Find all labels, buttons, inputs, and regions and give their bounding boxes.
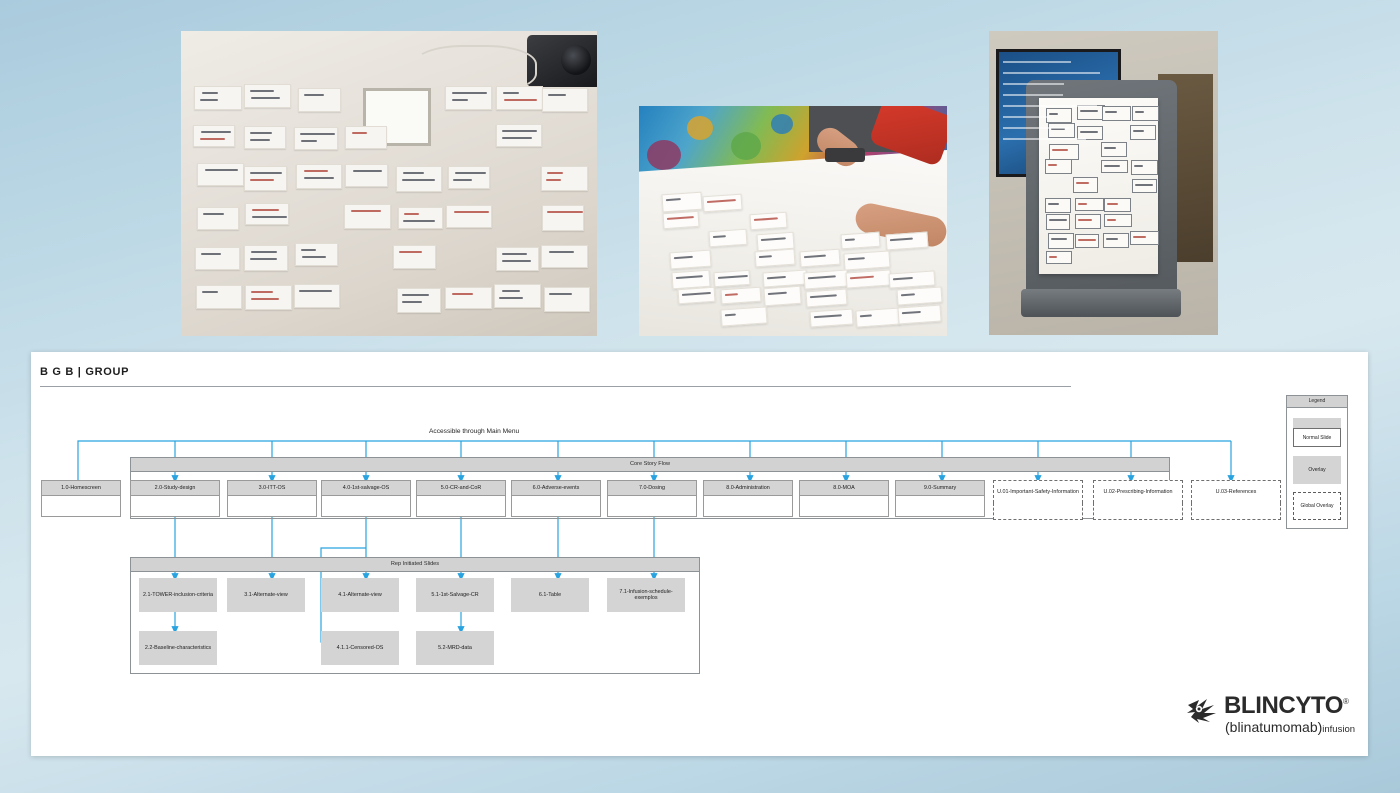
flipchart-easel-photo — [989, 31, 1218, 335]
printed-card — [670, 249, 712, 269]
handwriting-stroke — [402, 301, 422, 303]
handwriting-stroke — [1105, 111, 1117, 113]
handwriting-stroke — [1048, 203, 1059, 205]
printed-card — [763, 286, 801, 306]
handwriting-stroke — [502, 137, 533, 139]
handwriting-stroke — [1051, 238, 1067, 240]
handwriting-stroke — [201, 131, 231, 133]
handwriting-stroke — [1076, 182, 1089, 184]
sticky-note — [244, 245, 288, 270]
main-menu-band-label: Accessible through Main Menu — [429, 428, 519, 435]
handwriting-stroke — [252, 209, 279, 211]
printed-card — [721, 306, 768, 327]
handwriting-stroke — [808, 276, 836, 280]
sitemap-node-body — [607, 496, 697, 517]
handwriting-stroke — [666, 198, 681, 201]
sticky-note — [197, 163, 244, 186]
title-divider — [40, 386, 1071, 387]
sitemap-node-body — [416, 496, 506, 517]
handwriting-stroke — [499, 297, 523, 299]
flipchart-box — [1045, 159, 1072, 174]
handwriting-stroke — [302, 256, 326, 258]
flipchart-box — [1132, 179, 1157, 194]
handwriting-stroke — [353, 170, 383, 172]
sitemap-node-body — [130, 496, 220, 517]
handwriting-stroke — [902, 311, 921, 314]
sitemap-node-label: 2.2-Baseline-characteristics — [143, 645, 213, 651]
handwriting-stroke — [1107, 219, 1116, 221]
screen-text-line — [1003, 105, 1097, 107]
handwriting-stroke — [502, 130, 537, 132]
printed-card — [845, 269, 891, 288]
connector-lines — [31, 352, 1368, 756]
sitemap-node-label: U.03-References — [1214, 489, 1259, 495]
printed-card — [799, 248, 840, 266]
handwriting-stroke — [1135, 111, 1144, 113]
sitemap-node-header: 6.0-Adverse-events — [511, 480, 601, 496]
sitemap-node-label: 2.0-Study-design — [153, 485, 198, 491]
flipchart-box — [1130, 231, 1159, 245]
handwriting-stroke — [250, 132, 272, 134]
handwriting-stroke — [1106, 238, 1118, 240]
flipchart-box — [1049, 144, 1079, 160]
legend-swatch-normal-cap — [1293, 418, 1341, 428]
sitemap-node[interactable]: 4.0-1st-salvage-OS — [321, 480, 411, 517]
sticky-note — [294, 284, 340, 308]
handwriting-stroke — [452, 99, 468, 101]
sitemap-node[interactable]: 8.0-Administration — [703, 480, 793, 517]
handwriting-stroke — [859, 314, 871, 317]
presentation-slide: B G B | GROUP Accessible through Main Me… — [31, 352, 1368, 756]
sitemap-node[interactable]: 5.1-1st-Salvage-CR — [416, 578, 494, 612]
handwriting-stroke — [845, 239, 855, 242]
sitemap-node-label: 5.1-1st-Salvage-CR — [429, 592, 480, 598]
sticky-note — [195, 247, 240, 270]
printed-card — [708, 229, 747, 248]
legend-title: Legend — [1287, 396, 1347, 408]
handwriting-stroke — [725, 293, 738, 296]
handwriting-stroke — [201, 253, 222, 255]
handwriting-stroke — [351, 210, 381, 212]
sitemap-node[interactable]: 3.0-ITT-OS — [227, 480, 317, 517]
handwriting-stroke — [200, 138, 225, 140]
handwriting-stroke — [250, 172, 282, 174]
handwriting-stroke — [503, 92, 519, 94]
screen-text-line — [1003, 116, 1050, 118]
sitemap-node[interactable]: 7.0-Dosing — [607, 480, 697, 517]
sticky-note — [196, 285, 242, 309]
sitemap-node-header: 7.0-Dosing — [607, 480, 697, 496]
handwriting-stroke — [850, 276, 874, 280]
handwriting-stroke — [1078, 219, 1092, 221]
legend-swatch-overlay: Overlay — [1293, 456, 1341, 484]
handwriting-stroke — [900, 293, 914, 296]
sitemap-node-header: 2.0-Study-design — [130, 480, 220, 496]
sitemap-node-header: 4.1.1-Censored-OS — [321, 631, 399, 665]
sitemap-node[interactable]: 9.0-Summary — [895, 480, 985, 517]
handwriting-stroke — [1107, 203, 1118, 205]
handwriting-stroke — [250, 179, 274, 181]
sticky-note — [541, 245, 588, 268]
flipchart-box — [1131, 160, 1158, 175]
flipchart-box — [1101, 160, 1128, 173]
handwriting-stroke — [676, 276, 703, 280]
handwriting-stroke — [767, 276, 786, 279]
sitemap-node[interactable]: U.02-Prescribing-Information — [1093, 480, 1183, 520]
handwriting-stroke — [403, 220, 436, 222]
sitemap-node-header: 8.0-Administration — [703, 480, 793, 496]
flipchart-box — [1075, 198, 1104, 212]
sitemap-node-label: 7.0-Dosing — [637, 485, 667, 491]
handwriting-stroke — [402, 294, 429, 296]
handwriting-stroke — [813, 314, 841, 318]
handwriting-stroke — [301, 140, 317, 142]
sitemap-node[interactable]: 2.2-Baseline-characteristics — [139, 631, 217, 665]
legend-item-global-overlay: Global Overlay — [1293, 492, 1341, 520]
sticky-note — [496, 86, 543, 111]
handwriting-stroke — [546, 179, 561, 181]
flipchart-box — [1103, 233, 1129, 248]
sticky-note — [345, 126, 387, 148]
flipchart-box — [1104, 198, 1131, 213]
handwriting-stroke — [252, 216, 287, 218]
sitemap-node-header: 3.1-Alternate-view — [227, 578, 305, 612]
printed-card — [714, 270, 751, 288]
handwriting-stroke — [452, 293, 473, 295]
sticky-note — [244, 166, 286, 192]
handwriting-stroke — [768, 292, 787, 295]
handwriting-stroke — [761, 238, 786, 242]
flipchart-box — [1045, 198, 1071, 213]
flipchart-box — [1102, 106, 1130, 122]
printed-card — [803, 270, 848, 290]
sticky-note — [244, 126, 286, 149]
handwriting-stroke — [304, 170, 328, 172]
handwriting-stroke — [707, 199, 736, 203]
printed-card — [755, 249, 796, 268]
flipchart-box — [1130, 125, 1156, 140]
handwriting-stroke — [404, 213, 419, 215]
handwriting-stroke — [1080, 131, 1098, 133]
lane-core-story-flow-header: Core Story Flow — [131, 458, 1169, 472]
flipchart-box — [1075, 214, 1102, 229]
sitemap-node-label: 3.1-Alternate-view — [242, 592, 289, 598]
printed-card — [886, 232, 929, 251]
sitemap-node[interactable]: U.03-References — [1191, 480, 1281, 520]
sticky-note — [345, 164, 388, 187]
screen-text-line — [1003, 61, 1071, 63]
sitemap-node-header: U.02-Prescribing-Information — [1093, 480, 1183, 503]
handwriting-stroke — [547, 211, 583, 213]
handwriting-stroke — [399, 251, 422, 253]
handwriting-stroke — [1078, 203, 1086, 205]
handwriting-stroke — [250, 258, 277, 260]
page-title: B G B | GROUP — [40, 366, 129, 378]
handwriting-stroke — [1049, 256, 1058, 258]
sitemap-node-body — [511, 496, 601, 517]
printed-card — [840, 232, 880, 250]
handwriting-stroke — [202, 291, 218, 293]
handwriting-stroke — [893, 277, 913, 280]
sticky-note — [542, 205, 584, 231]
sticky-note — [496, 247, 539, 271]
blincyto-wordmark: BLINCYTO® — [1224, 692, 1349, 720]
sitemap-node-header: 2.1-TOWER-inclusion-criteria — [139, 578, 217, 612]
handwriting-stroke — [1134, 165, 1142, 167]
sticky-note — [445, 86, 493, 110]
handwriting-stroke — [549, 293, 571, 295]
handwriting-stroke — [1078, 239, 1096, 241]
sticky-note — [298, 88, 341, 113]
handwriting-stroke — [549, 251, 574, 253]
handwriting-stroke — [205, 169, 238, 171]
sticky-note — [294, 127, 338, 150]
sticky-note — [244, 84, 291, 108]
sitemap-node[interactable]: 3.1-Alternate-view — [227, 578, 305, 612]
handwriting-stroke — [502, 260, 531, 262]
sitemap-node-header: U.03-References — [1191, 480, 1281, 503]
handwriting-stroke — [203, 213, 224, 215]
screen-text-line — [1003, 127, 1069, 129]
table-card-sort-photo — [639, 106, 947, 336]
flipchart-box — [1046, 251, 1072, 264]
handwriting-stroke — [890, 238, 913, 242]
sitemap-node[interactable]: 2.1-TOWER-inclusion-criteria — [139, 578, 217, 612]
sitemap-node-label: 8.0-MOA — [831, 485, 857, 491]
handwriting-stroke — [452, 92, 487, 94]
handwriting-stroke — [674, 255, 693, 258]
sitemap-node[interactable]: U.01-Important-Safety-Information — [993, 480, 1083, 520]
handwriting-stroke — [1048, 164, 1057, 166]
sitemap-node-body — [895, 496, 985, 517]
sitemap-node-header: 8.0-MOA — [799, 480, 889, 496]
sitemap-node-label: 4.1-Alternate-view — [336, 592, 383, 598]
sticky-note — [396, 166, 443, 192]
handwriting-stroke — [667, 216, 694, 220]
sitemap-node[interactable]: 4.1-Alternate-view — [321, 578, 399, 612]
handwriting-stroke — [202, 92, 218, 94]
printed-card — [855, 308, 901, 328]
handwriting-stroke — [759, 255, 772, 258]
handwriting-stroke — [725, 313, 736, 316]
handwriting-stroke — [754, 217, 778, 221]
sitemap-node-body — [1093, 503, 1183, 520]
handwriting-stroke — [1133, 130, 1144, 132]
sitemap-node-label: 2.1-TOWER-inclusion-criteria — [141, 592, 215, 598]
printed-card — [677, 286, 715, 303]
flipchart-box — [1075, 234, 1099, 248]
handwriting-stroke — [301, 249, 315, 251]
sitemap-node[interactable]: 5.0-CR-and-CoR — [416, 480, 506, 517]
handwriting-stroke — [1052, 149, 1068, 151]
handwriting-stroke — [1104, 147, 1115, 149]
sticky-note — [494, 284, 541, 308]
handwriting-stroke — [251, 251, 276, 253]
handwriting-stroke — [251, 97, 280, 99]
sticky-note — [448, 166, 490, 189]
sticky-note — [398, 207, 443, 229]
sitemap-node[interactable]: 6.1-Table — [511, 578, 589, 612]
sitemap-node-body — [703, 496, 793, 517]
handwriting-stroke — [251, 298, 280, 300]
sticky-note — [397, 288, 441, 313]
handwriting-stroke — [1080, 110, 1099, 112]
handwriting-stroke — [1104, 165, 1120, 167]
sitemap-node-label: 8.0-Administration — [724, 485, 771, 491]
sticky-note — [245, 285, 291, 311]
handwriting-stroke — [250, 139, 270, 141]
sitemap-node[interactable]: 6.0-Adverse-events — [511, 480, 601, 517]
sticky-note — [295, 243, 338, 265]
handwriting-stroke — [502, 253, 527, 255]
handwriting-stroke — [1049, 219, 1067, 221]
legend-item-overlay: Overlay — [1293, 456, 1341, 484]
handwriting-stroke — [504, 99, 537, 101]
sticky-note — [296, 164, 342, 189]
sticky-note — [194, 86, 242, 111]
sitemap-node-body — [799, 496, 889, 517]
screen-text-line — [1003, 83, 1064, 85]
sitemap-node[interactable]: 2.0-Study-design — [130, 480, 220, 517]
sitemap-node-body — [227, 496, 317, 517]
printed-card — [809, 308, 853, 327]
sitemap-node-header: 9.0-Summary — [895, 480, 985, 496]
sitemap-node[interactable]: 8.0-MOA — [799, 480, 889, 517]
flipchart-box — [1101, 142, 1127, 157]
blincyto-logo: BLINCYTO® (blinatumomab)infusion — [1186, 692, 1358, 742]
handwriting-stroke — [502, 290, 520, 292]
sitemap-node-label: 6.1-Table — [537, 592, 563, 598]
sticky-note — [544, 287, 590, 312]
sitemap-node[interactable]: 5.2-MRD-data — [416, 631, 494, 665]
sitemap-node-label: 4.0-1st-salvage-OS — [341, 485, 391, 491]
blincyto-mark-icon — [1186, 696, 1220, 724]
handwriting-stroke — [250, 90, 275, 92]
handwriting-stroke — [809, 294, 836, 298]
blincyto-generic-name: (blinatumomab)infusion — [1225, 719, 1355, 735]
handwriting-stroke — [1135, 184, 1153, 186]
sticky-note — [393, 245, 436, 269]
sitemap-node-label: 5.0-CR-and-CoR — [439, 485, 483, 491]
flipchart-box — [1048, 123, 1075, 138]
sitemap-node-label: 4.1.1-Censored-OS — [335, 645, 386, 651]
printed-card — [749, 212, 787, 230]
handwriting-stroke — [1049, 113, 1058, 115]
printed-card — [889, 270, 936, 289]
handwriting-stroke — [304, 94, 325, 96]
sitemap-node[interactable]: 1.0-Homescreen — [41, 480, 121, 517]
handwriting-stroke — [453, 179, 472, 181]
handwriting-stroke — [403, 172, 424, 174]
handwriting-stroke — [352, 132, 367, 134]
sticky-note — [446, 205, 492, 228]
handwriting-stroke — [299, 290, 332, 292]
sitemap-node[interactable]: 7.1-Infusion-schedule-exemplos — [607, 578, 685, 612]
sitemap-node-header: 2.2-Baseline-characteristics — [139, 631, 217, 665]
sitemap-node-label: 1.0-Homescreen — [59, 485, 103, 491]
screen-text-line — [1003, 72, 1100, 74]
sitemap-node-body — [1191, 503, 1281, 520]
legend-item-normal-slide: Normal Slide — [1293, 418, 1341, 447]
sitemap-node-label: 6.0-Adverse-events — [531, 485, 582, 491]
sitemap-node-body — [41, 496, 121, 517]
printed-card — [805, 288, 847, 307]
sitemap-node-body — [993, 503, 1083, 520]
screen-text-line — [1003, 94, 1063, 96]
whiteboard-sticky-notes-photo — [181, 31, 597, 336]
flipchart-box — [1132, 106, 1159, 121]
sitemap-node-header: 3.0-ITT-OS — [227, 480, 317, 496]
handwriting-stroke — [300, 133, 335, 135]
handwriting-stroke — [718, 275, 748, 279]
sticky-note — [542, 88, 588, 113]
handwriting-stroke — [713, 235, 726, 238]
handwriting-stroke — [547, 172, 563, 174]
sticky-note — [541, 166, 588, 191]
printed-card — [662, 211, 699, 229]
legend-swatch-global-overlay: Global Overlay — [1293, 492, 1341, 520]
sitemap-node-header: 5.1-1st-Salvage-CR — [416, 578, 494, 612]
printed-card — [702, 193, 742, 211]
handwriting-stroke — [402, 179, 435, 181]
sitemap-node-header: 7.1-Infusion-schedule-exemplos — [607, 578, 685, 612]
handwriting-stroke — [848, 257, 865, 260]
flipchart-box — [1104, 214, 1131, 227]
flipchart-box — [1048, 233, 1074, 248]
printed-card — [661, 191, 703, 211]
handwriting-stroke — [200, 99, 218, 101]
printed-card — [843, 251, 890, 272]
sticky-note — [197, 207, 239, 230]
flipchart-box — [1073, 177, 1097, 193]
sticky-note — [193, 125, 235, 147]
sitemap-node-label: 9.0-Summary — [922, 485, 958, 491]
legend-swatch-normal-body: Normal Slide — [1293, 428, 1341, 447]
screen-text-line — [1003, 138, 1086, 140]
sitemap-node-label: 5.2-MRD-data — [436, 645, 474, 651]
handwriting-stroke — [251, 291, 272, 293]
sitemap-node-body — [321, 496, 411, 517]
sitemap-node-header: 6.1-Table — [511, 578, 589, 612]
handwriting-stroke — [1133, 236, 1145, 238]
handwriting-stroke — [548, 94, 566, 96]
sitemap-node-label: 7.1-Infusion-schedule-exemplos — [607, 589, 685, 601]
sitemap-node[interactable]: 4.1.1-Censored-OS — [321, 631, 399, 665]
flipchart-box — [1046, 214, 1070, 230]
sitemap-node-header: 5.2-MRD-data — [416, 631, 494, 665]
handwriting-stroke — [304, 177, 335, 179]
printed-card — [896, 286, 942, 305]
lane-rep-initiated-slides-header: Rep Initiated Slides — [131, 558, 699, 572]
sticky-note — [496, 124, 542, 147]
handwriting-stroke — [804, 254, 826, 258]
flipchart-box — [1077, 105, 1105, 119]
sticky-note — [344, 204, 391, 229]
sitemap-node-header: 4.0-1st-salvage-OS — [321, 480, 411, 496]
sitemap-node-header: U.01-Important-Safety-Information — [993, 480, 1083, 503]
sitemap-node-label: 3.0-ITT-OS — [257, 485, 288, 491]
sitemap-node-header: 4.1-Alternate-view — [321, 578, 399, 612]
sitemap-node-header: 5.0-CR-and-CoR — [416, 480, 506, 496]
handwriting-stroke — [454, 211, 489, 213]
sitemap-node-label: U.01-Important-Safety-Information — [995, 489, 1081, 495]
handwriting-stroke — [681, 292, 710, 296]
handwriting-stroke — [455, 172, 486, 174]
sitemap-node-header: 1.0-Homescreen — [41, 480, 121, 496]
sitemap-node-label: U.02-Prescribing-Information — [1102, 489, 1175, 495]
sticky-note — [445, 287, 492, 309]
sticky-note — [245, 203, 290, 225]
